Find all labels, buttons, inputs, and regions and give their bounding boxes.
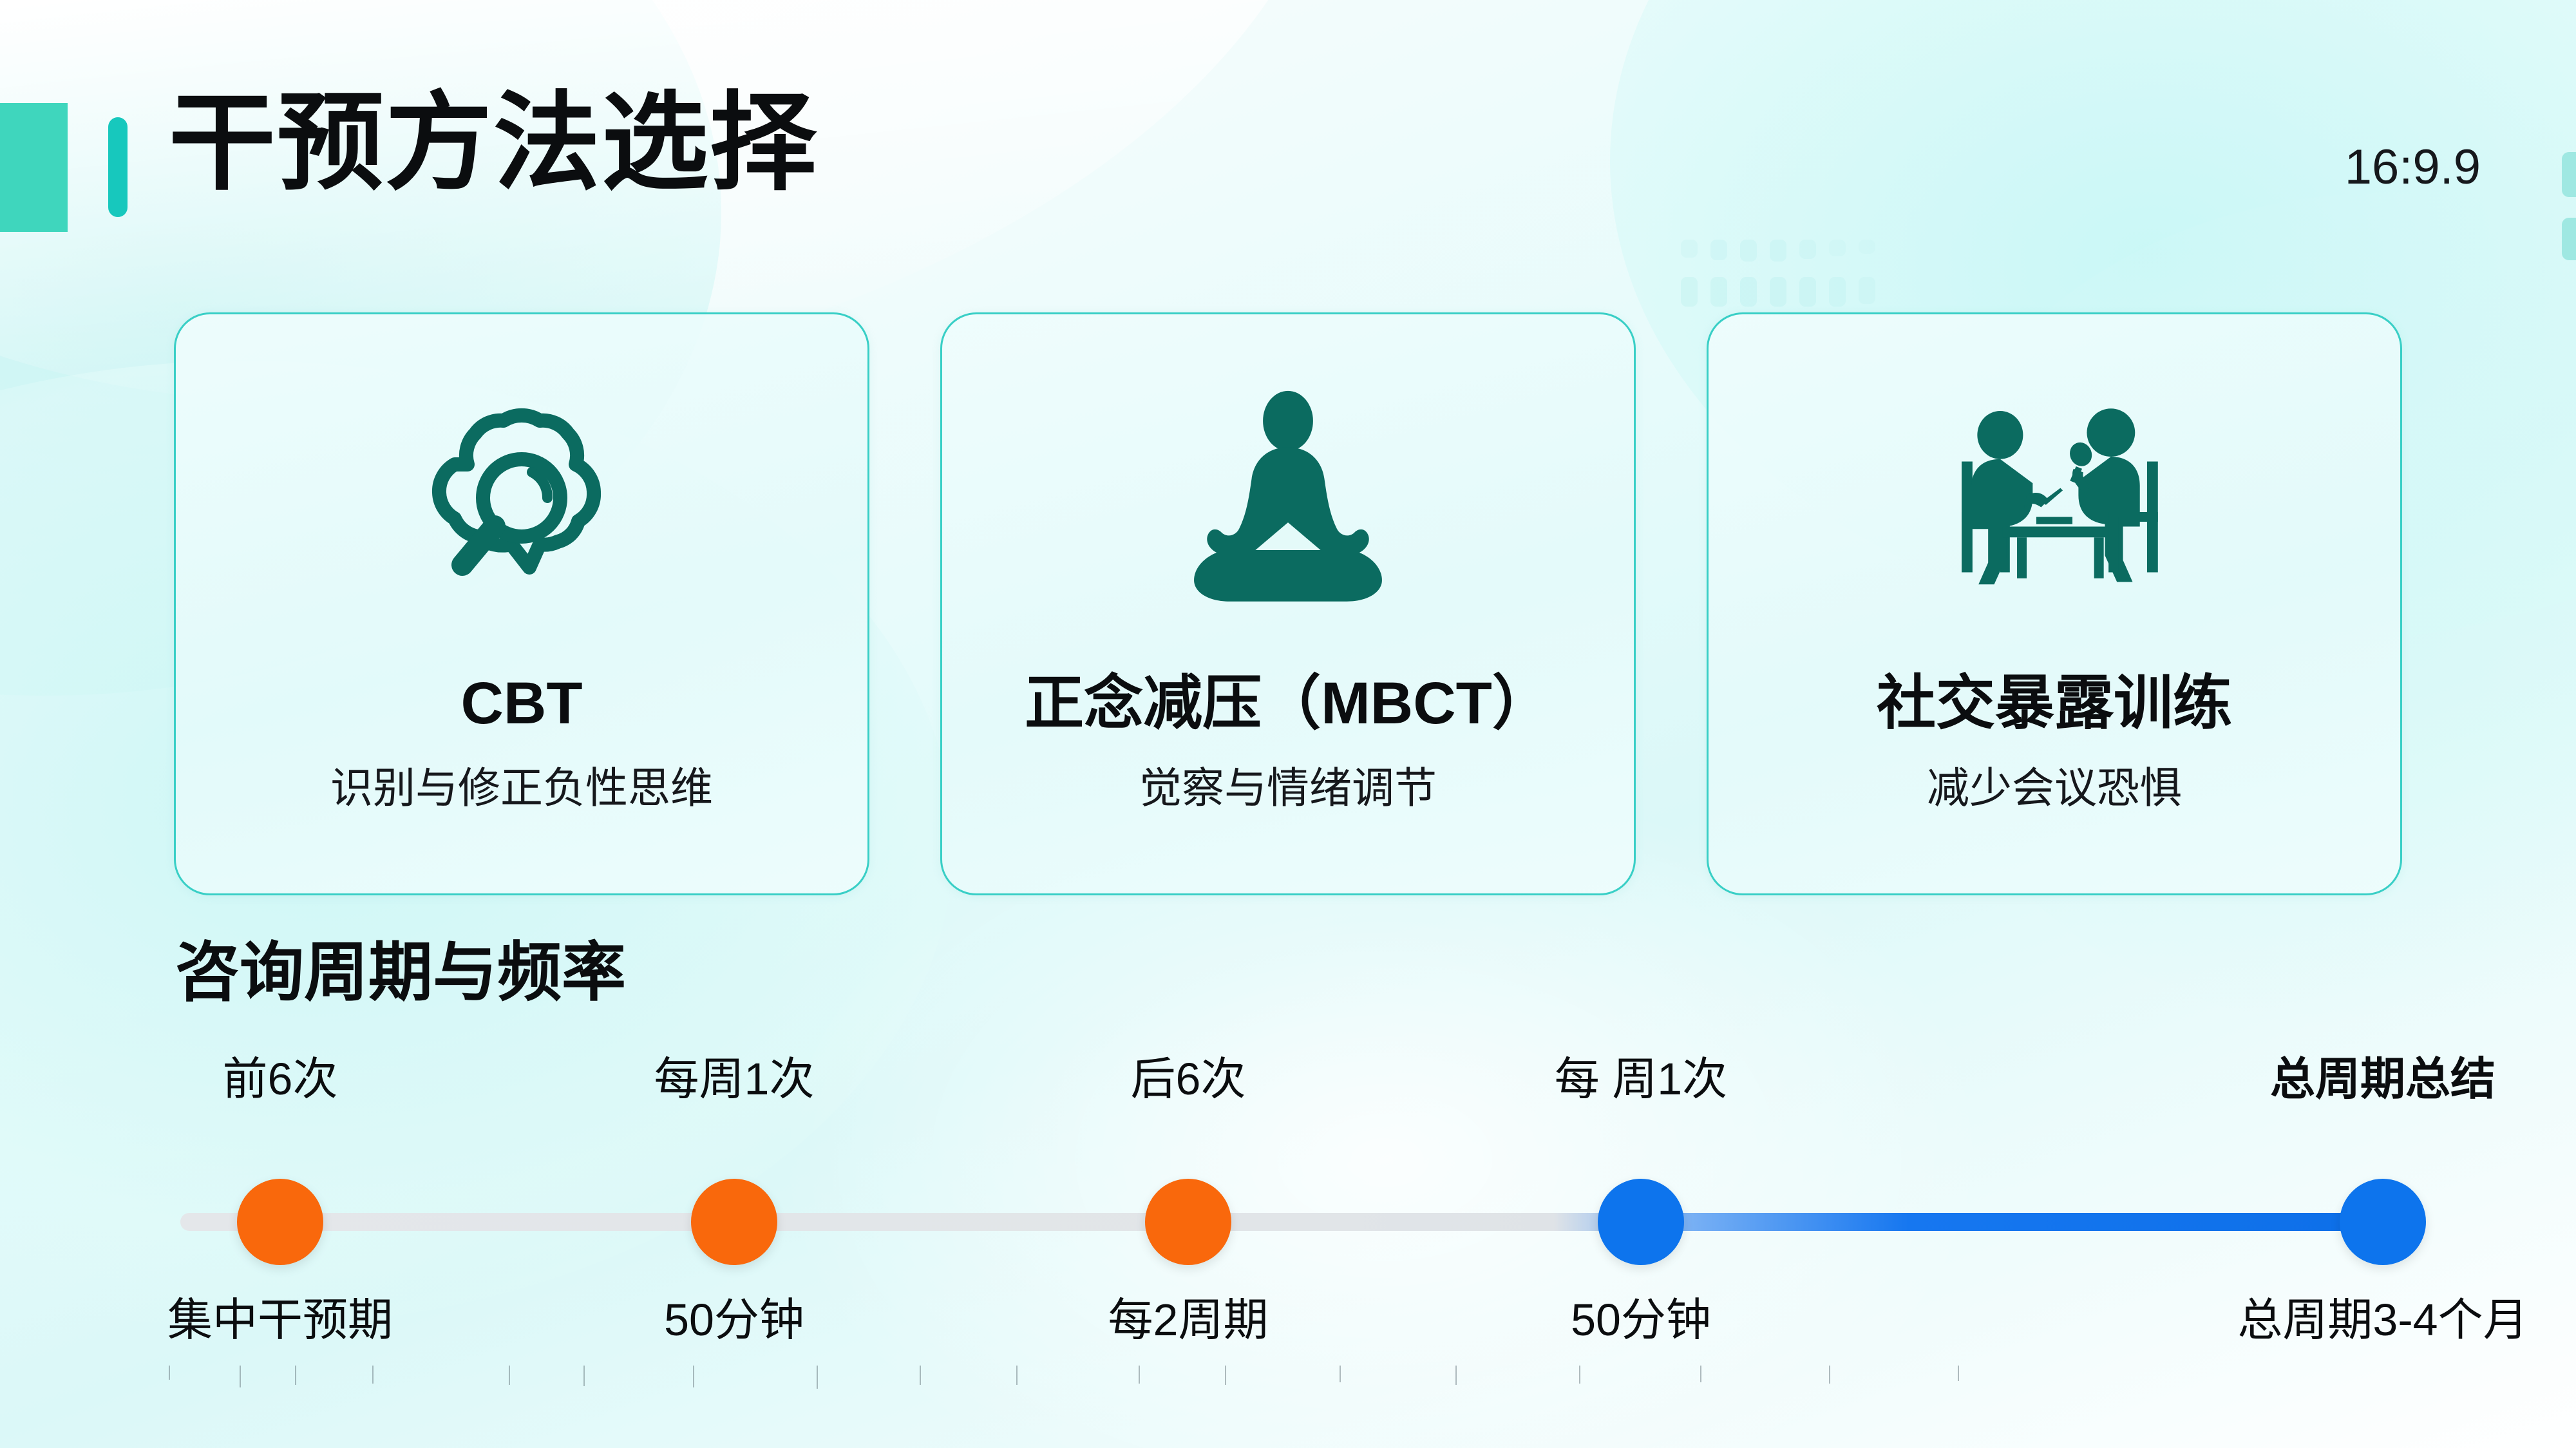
card-subtitle: 觉察与情绪调节: [1139, 767, 1437, 809]
timeline-node-top-label: 前6次: [80, 1056, 480, 1101]
card-subtitle: 减少会议恐惧: [1927, 767, 2182, 809]
card-title: 社交暴露训练: [1877, 674, 2232, 733]
consultation-timeline: 前6次 集中干预期 每周1次 50分钟 后6次 每2周期 每 周1次 50分钟 …: [0, 1056, 2576, 1366]
edge-chip-bottom: [2562, 218, 2576, 260]
brain-magnifier-icon: [393, 365, 650, 642]
bottom-tick-marks: [0, 1366, 2576, 1404]
timeline-node-dot[interactable]: [1598, 1179, 1684, 1265]
method-card-list: CBT 识别与修正负性思维 正念减压（MBCT） 觉察与情绪调节: [174, 312, 2402, 895]
timeline-node-top-label: 每周1次: [535, 1056, 934, 1101]
method-card-social-exposure[interactable]: 社交暴露训练 减少会议恐惧: [1707, 312, 2402, 895]
card-title: 正念减压（MBCT）: [1025, 674, 1551, 733]
timeline-node-dot[interactable]: [237, 1179, 323, 1265]
timeline-node-bottom-label: 每2周期: [989, 1297, 1388, 1342]
method-card-mbct[interactable]: 正念减压（MBCT） 觉察与情绪调节: [940, 312, 1636, 895]
timeline-node-dot[interactable]: [2340, 1179, 2426, 1265]
timeline-node-dot[interactable]: [1145, 1179, 1231, 1265]
aspect-ratio-tag: 16:9.9: [2345, 139, 2481, 195]
timeline-node-top-label: 总周期总结: [2183, 1056, 2576, 1101]
page-title: 干预方法选择: [169, 90, 818, 197]
timeline-node-top-label: 后6次: [989, 1056, 1388, 1101]
timeline-node-bottom-label: 50分钟: [1441, 1297, 1841, 1342]
card-subtitle: 识别与修正负性思维: [330, 767, 713, 809]
title-accent-block: [0, 103, 68, 232]
timeline-track: [180, 1213, 2396, 1231]
timeline-node-bottom-label: 50分钟: [535, 1297, 934, 1342]
method-card-cbt[interactable]: CBT 识别与修正负性思维: [174, 312, 869, 895]
slide-root: 干预方法选择 16:9.9 CBT 识别与修正负性思维: [0, 0, 2576, 1448]
timeline-node-dot[interactable]: [691, 1179, 777, 1265]
timeline-heading: 咨询周期与频率: [175, 940, 626, 1005]
timeline-node-bottom-label: 集中干预期: [80, 1297, 480, 1342]
timeline-node-top-label: 每 周1次: [1441, 1056, 1841, 1101]
timeline-node-bottom-label: 总周期3-4个月: [2183, 1297, 2576, 1342]
card-title: CBT: [460, 674, 582, 733]
meditation-lotus-icon: [1162, 365, 1414, 642]
two-people-meeting-icon: [1916, 365, 2193, 642]
edge-chip-top: [2562, 152, 2576, 197]
title-accent-bar: [108, 117, 128, 217]
